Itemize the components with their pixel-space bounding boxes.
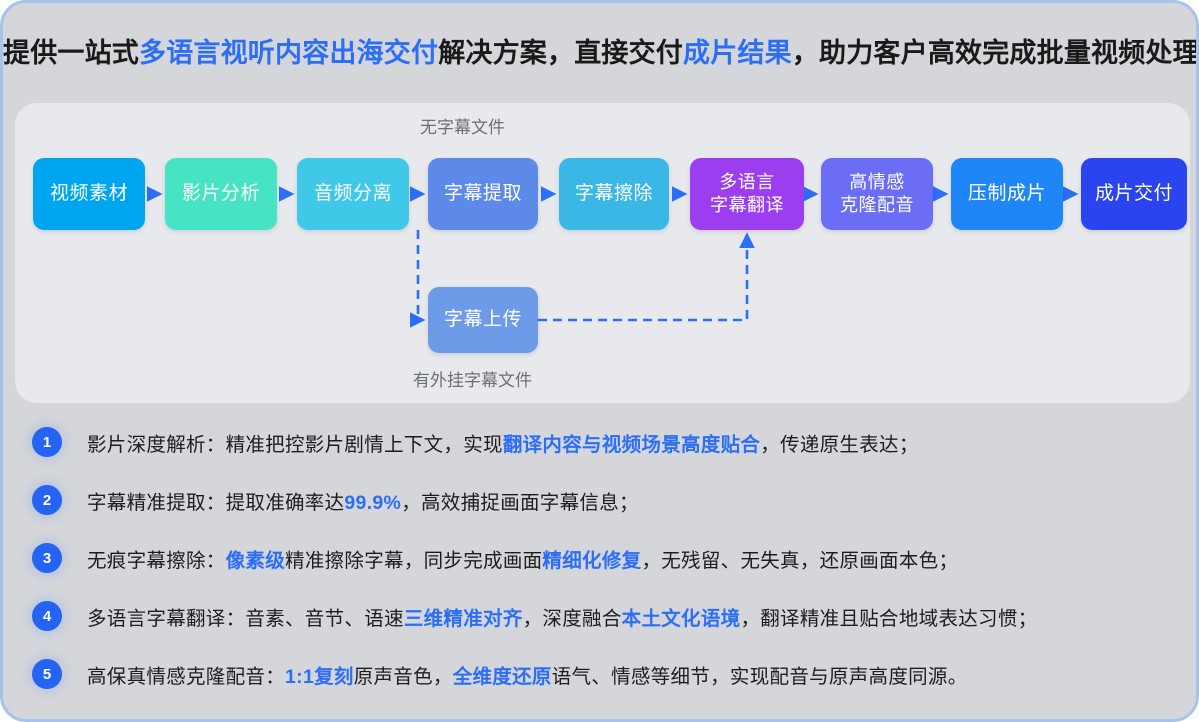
feature-3-segment-3: 精细化修复 (542, 550, 641, 572)
feature-4-segment-4: ，翻译精准且贴合地域表达习惯； (740, 608, 1037, 630)
flow-node-subtitle-extract[interactable]: 字幕提取 (428, 158, 538, 230)
feature-text: 无痕字幕擦除：像素级精准擦除字幕，同步完成画面精细化修复，无残留、无失真，还原画… (87, 544, 958, 573)
feature-1-segment-0: 影片深度解析：精准把控影片剧情上下文，实现 (87, 434, 503, 456)
flow-node-subtitle-upload[interactable]: 字幕上传 (428, 287, 538, 353)
feature-text: 字幕精准提取：提取准确率达99.9%，高效捕捉画面字幕信息； (87, 486, 639, 515)
headline-segment-2: 解决方案，直接交付 (438, 38, 683, 68)
feature-text: 多语言字幕翻译：音素、音节、语速三维精准对齐，深度融合本土文化语境，翻译精准且贴… (87, 602, 1037, 631)
feature-badge-4: 4 (32, 601, 62, 631)
workflow-panel: 无字幕文件 有外挂字幕文件 视频素材影片分析音频分离字幕提取字幕擦除多语言 字幕… (15, 103, 1190, 403)
feature-2-segment-2: ，高效捕捉画面字幕信息； (401, 492, 639, 514)
feature-5-segment-0: 高保真情感克隆配音： (87, 666, 285, 688)
flow-node-video-source[interactable]: 视频素材 (33, 158, 145, 230)
feature-badge-3: 3 (32, 543, 62, 573)
feature-3-segment-0: 无痕字幕擦除： (87, 550, 226, 572)
feature-3-segment-4: ，无残留、无失真，还原画面本色； (641, 550, 958, 572)
headline-segment-4: ，助力客户高效完成批量视频处理。 (792, 38, 1199, 68)
caption-external-subtitle-file: 有外挂字幕文件 (413, 366, 532, 391)
feature-text: 影片深度解析：精准把控影片剧情上下文，实现翻译内容与视频场景高度贴合，传递原生表… (87, 428, 919, 457)
feature-badge-5: 5 (32, 659, 62, 689)
feature-5-segment-2: 原声音色， (354, 666, 453, 688)
feature-item: 1影片深度解析：精准把控影片剧情上下文，实现翻译内容与视频场景高度贴合，传递原生… (3, 413, 1199, 471)
flow-node-audio-separation[interactable]: 音频分离 (297, 158, 409, 230)
flow-node-final-delivery[interactable]: 成片交付 (1081, 158, 1187, 230)
flow-node-subtitle-erase[interactable]: 字幕擦除 (559, 158, 669, 230)
caption-no-subtitle-file: 无字幕文件 (420, 113, 505, 138)
connector (538, 235, 747, 320)
flow-node-encode-output[interactable]: 压制成片 (951, 158, 1063, 230)
feature-4-segment-1: 三维精准对齐 (404, 608, 523, 630)
slide-root: 提供一站式多语言视听内容出海交付解决方案，直接交付成片结果，助力客户高效完成批量… (0, 0, 1199, 722)
feature-1-segment-1: 翻译内容与视频场景高度贴合 (503, 434, 760, 456)
headline-segment-3: 成片结果 (683, 38, 792, 68)
feature-item: 5高保真情感克隆配音：1:1复刻原声音色，全维度还原语气、情感等细节，实现配音与… (3, 645, 1199, 703)
feature-list: 1影片深度解析：精准把控影片剧情上下文，实现翻译内容与视频场景高度贴合，传递原生… (3, 413, 1199, 703)
feature-3-segment-1: 像素级 (226, 550, 285, 572)
feature-5-segment-4: 语气、情感等细节，实现配音与原声高度同源。 (552, 666, 968, 688)
feature-3-segment-2: 精准擦除字幕，同步完成画面 (285, 550, 542, 572)
workflow-connectors (15, 103, 1190, 403)
connector (418, 230, 423, 320)
feature-4-segment-2: ，深度融合 (523, 608, 622, 630)
flow-node-emotion-clone-dub[interactable]: 高情感 克隆配音 (821, 158, 933, 230)
page-title: 提供一站式多语言视听内容出海交付解决方案，直接交付成片结果，助力客户高效完成批量… (3, 31, 1199, 70)
feature-text: 高保真情感克隆配音：1:1复刻原声音色，全维度还原语气、情感等细节，实现配音与原… (87, 660, 968, 689)
headline-segment-1: 多语言视听内容出海交付 (139, 38, 438, 68)
feature-item: 4多语言字幕翻译：音素、音节、语速三维精准对齐，深度融合本土文化语境，翻译精准且… (3, 587, 1199, 645)
flow-node-multilang-translate[interactable]: 多语言 字幕翻译 (690, 158, 804, 230)
feature-5-segment-3: 全维度还原 (453, 666, 552, 688)
feature-4-segment-0: 多语言字幕翻译：音素、音节、语速 (87, 608, 404, 630)
feature-1-segment-2: ，传递原生表达； (760, 434, 918, 456)
feature-badge-2: 2 (32, 485, 62, 515)
feature-badge-1: 1 (32, 427, 62, 457)
feature-2-segment-1: 99.9% (344, 492, 401, 514)
feature-5-segment-1: 1:1复刻 (285, 666, 354, 688)
feature-2-segment-0: 字幕精准提取：提取准确率达 (87, 492, 344, 514)
flow-node-film-analysis[interactable]: 影片分析 (165, 158, 277, 230)
headline-segment-0: 提供一站式 (3, 38, 139, 68)
feature-item: 3无痕字幕擦除：像素级精准擦除字幕，同步完成画面精细化修复，无残留、无失真，还原… (3, 529, 1199, 587)
feature-4-segment-3: 本土文化语境 (622, 608, 741, 630)
feature-item: 2字幕精准提取：提取准确率达99.9%，高效捕捉画面字幕信息； (3, 471, 1199, 529)
